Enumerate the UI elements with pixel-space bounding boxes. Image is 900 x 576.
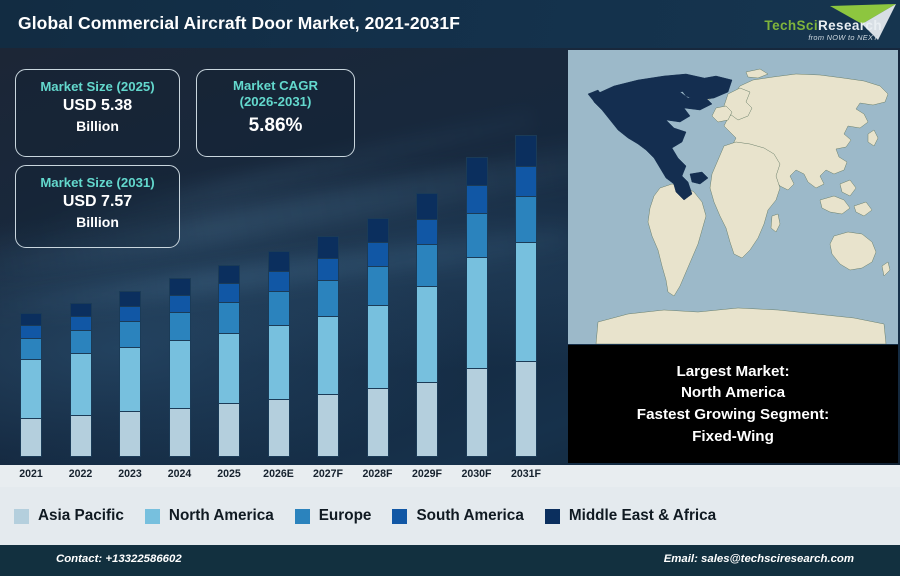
bar-segment-north-america [317, 316, 339, 394]
bar-segment-middle-east-africa [20, 313, 42, 326]
bar-2031F [515, 135, 537, 457]
bar-segment-middle-east-africa [119, 291, 141, 306]
x-axis-label-2027F: 2027F [301, 468, 355, 480]
bar-2023 [119, 291, 141, 457]
largest-market-label: Largest Market: [676, 361, 789, 383]
bar-segment-south-america [218, 283, 240, 301]
x-axis-label-2021: 2021 [4, 468, 58, 480]
bar-segment-north-america [515, 242, 537, 360]
legend-swatch [392, 509, 407, 524]
header-bar: Global Commercial Aircraft Door Market, … [0, 0, 900, 48]
bar-segment-middle-east-africa [70, 303, 92, 317]
bar-segment-asia-pacific [416, 382, 438, 457]
bar-segment-south-america [367, 242, 389, 265]
bar-segment-europe [515, 196, 537, 242]
legend-swatch [295, 509, 310, 524]
bar-segment-europe [169, 312, 191, 340]
fastest-segment-label: Fastest Growing Segment: [637, 404, 829, 426]
largest-market-value: North America [681, 382, 785, 404]
x-axis-label-2031F: 2031F [499, 468, 553, 480]
legend-label: Middle East & Africa [569, 507, 716, 525]
bar-segment-asia-pacific [70, 415, 92, 457]
legend-item-north-america[interactable]: North America [145, 507, 274, 525]
bar-2030F [466, 157, 488, 457]
x-axis-label-2022: 2022 [54, 468, 108, 480]
bar-segment-south-america [169, 295, 191, 312]
infographic-root: Global Commercial Aircraft Door Market, … [0, 0, 900, 576]
bar-segment-europe [416, 244, 438, 285]
bar-segment-middle-east-africa [515, 135, 537, 166]
legend-swatch [545, 509, 560, 524]
bar-2028F [367, 218, 389, 457]
bar-segment-middle-east-africa [367, 218, 389, 242]
page-title: Global Commercial Aircraft Door Market, … [18, 13, 460, 34]
bar-segment-asia-pacific [317, 394, 339, 457]
bar-segment-asia-pacific [367, 388, 389, 457]
chart-legend: Asia PacificNorth AmericaEuropeSouth Ame… [0, 487, 900, 545]
logo-wordmark: TechSciResearch [764, 18, 882, 34]
bar-segment-europe [268, 291, 290, 324]
footer-bar: Contact: +13322586602 Email: sales@techs… [0, 545, 900, 576]
bar-segment-middle-east-africa [218, 265, 240, 283]
x-axis-label-2028F: 2028F [351, 468, 405, 480]
bar-segment-south-america [70, 316, 92, 330]
bar-segment-asia-pacific [169, 408, 191, 457]
footer-email: Email: sales@techsciresearch.com [664, 553, 854, 565]
x-axis-label-2029F: 2029F [400, 468, 454, 480]
bar-segment-europe [218, 302, 240, 333]
bar-segment-north-america [169, 340, 191, 407]
bar-segment-asia-pacific [20, 418, 42, 457]
bar-2021 [20, 313, 42, 457]
bar-segment-north-america [268, 325, 290, 399]
legend-label: North America [169, 507, 274, 525]
bar-2024 [169, 278, 191, 457]
bar-segment-north-america [70, 353, 92, 415]
legend-label: Asia Pacific [38, 507, 124, 525]
bar-segment-north-america [218, 333, 240, 404]
bar-segment-middle-east-africa [416, 193, 438, 219]
legend-swatch [145, 509, 160, 524]
bar-segment-south-america [268, 271, 290, 291]
bar-segment-europe [70, 330, 92, 353]
x-axis-label-2026E: 2026E [252, 468, 306, 480]
logo-name-tech: TechSci [764, 18, 818, 33]
bar-segment-middle-east-africa [317, 236, 339, 258]
logo-tagline: from NOW to NEXT [808, 33, 878, 42]
bar-2022 [70, 303, 92, 457]
world-map-svg [568, 50, 898, 344]
bar-segment-europe [367, 266, 389, 305]
bar-segment-south-america [466, 185, 488, 213]
bar-segment-south-america [119, 306, 141, 321]
stacked-bar-chart [0, 48, 560, 465]
legend-label: South America [416, 507, 523, 525]
legend-item-europe[interactable]: Europe [295, 507, 372, 525]
bar-segment-asia-pacific [466, 368, 488, 457]
bar-segment-south-america [317, 258, 339, 280]
bar-segment-asia-pacific [515, 361, 537, 457]
legend-label: Europe [319, 507, 372, 525]
bar-segment-middle-east-africa [169, 278, 191, 295]
chart-x-axis: 202120222023202420252026E2027F2028F2029F… [0, 465, 560, 487]
techsci-research-logo: TechSciResearch from NOW to NEXT [715, 0, 900, 48]
bar-segment-asia-pacific [268, 399, 290, 457]
legend-swatch [14, 509, 29, 524]
bar-segment-north-america [367, 305, 389, 389]
bar-segment-middle-east-africa [466, 157, 488, 185]
fastest-segment-value: Fixed-Wing [692, 426, 774, 448]
bar-segment-south-america [515, 166, 537, 196]
logo-name-research: Research [818, 18, 882, 33]
world-map [568, 50, 898, 344]
legend-item-middle-east-africa[interactable]: Middle East & Africa [545, 507, 716, 525]
x-axis-label-2024: 2024 [153, 468, 207, 480]
bar-2027F [317, 236, 339, 457]
legend-item-south-america[interactable]: South America [392, 507, 523, 525]
x-axis-label-2025: 2025 [202, 468, 256, 480]
bar-segment-asia-pacific [119, 411, 141, 457]
key-findings-box: Largest Market: North America Fastest Gr… [568, 345, 898, 463]
bar-2025 [218, 265, 240, 457]
bar-2026E [268, 251, 290, 457]
x-axis-label-2023: 2023 [103, 468, 157, 480]
bar-segment-south-america [416, 219, 438, 245]
bar-segment-north-america [466, 257, 488, 368]
bar-2029F [416, 193, 438, 457]
bar-segment-middle-east-africa [268, 251, 290, 271]
bar-segment-south-america [20, 325, 42, 338]
bar-segment-europe [466, 213, 488, 257]
bar-segment-europe [317, 280, 339, 316]
x-axis-label-2030F: 2030F [450, 468, 504, 480]
legend-item-asia-pacific[interactable]: Asia Pacific [14, 507, 124, 525]
bar-segment-north-america [119, 347, 141, 411]
footer-contact: Contact: +13322586602 [56, 553, 182, 565]
bar-segment-europe [119, 321, 141, 347]
bar-segment-north-america [20, 359, 42, 418]
bar-segment-north-america [416, 286, 438, 382]
bar-segment-asia-pacific [218, 403, 240, 457]
bar-segment-europe [20, 338, 42, 359]
